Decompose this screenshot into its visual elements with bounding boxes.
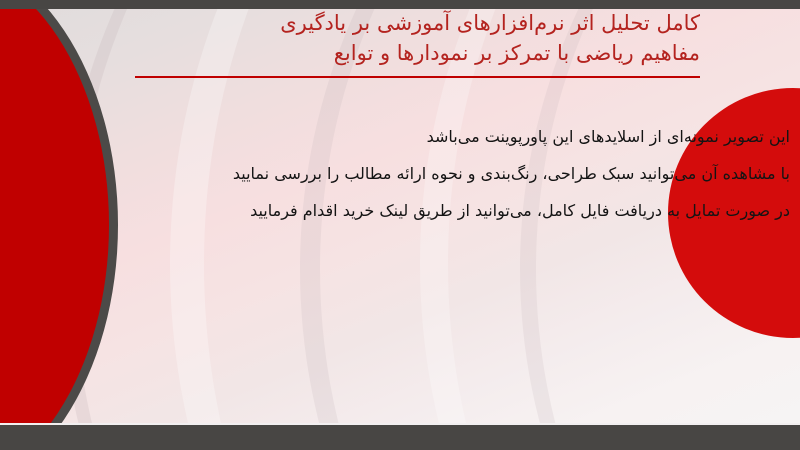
slide-title: کامل تحلیل اثر نرم‌افزارهای آموزشی بر یا… [120,8,700,68]
slide-body: این تصویر نمونه‌ای از اسلایدهای این پاور… [130,118,790,229]
slide-body-line-1: این تصویر نمونه‌ای از اسلایدهای این پاور… [130,118,790,155]
slide-body-line-2: با مشاهده آن می‌توانید سبک طراحی، رنگ‌بن… [130,155,790,192]
red-underline [135,76,700,78]
presentation-slide: کامل تحلیل اثر نرم‌افزارهای آموزشی بر یا… [0,0,800,450]
slide-title-line-2: مفاهیم ریاضی با تمرکز بر نمودارها و تواب… [120,38,700,68]
dark-frame-bottom [0,425,800,450]
slide-body-line-3: در صورت تمایل به دریافت فایل کامل، می‌تو… [130,192,790,229]
slide-title-line-1: کامل تحلیل اثر نرم‌افزارهای آموزشی بر یا… [120,8,700,38]
